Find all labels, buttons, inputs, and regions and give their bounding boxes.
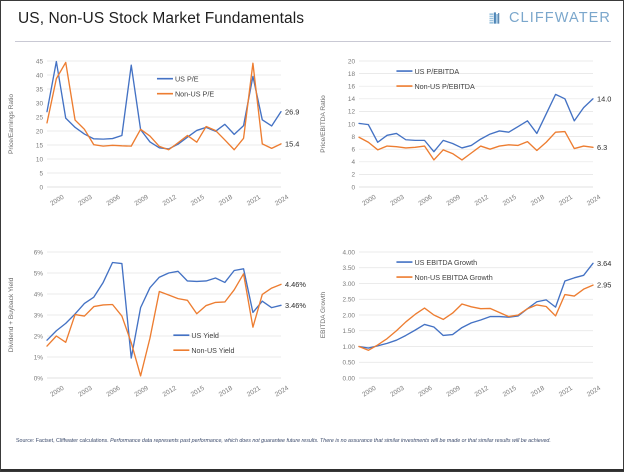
legend-label: US P/EBITDA <box>414 67 459 76</box>
y-axis-tick-label: 45 <box>36 58 44 65</box>
y-axis-tick-label: 0 <box>39 184 43 191</box>
x-axis-tick-label: 2003 <box>77 385 93 399</box>
y-axis-tick-label: 4% <box>34 291 44 298</box>
y-axis-tick-label: 6% <box>34 249 44 256</box>
x-axis-tick-label: 2003 <box>389 385 405 399</box>
y-axis-tick-label: 0% <box>34 375 44 382</box>
x-axis-tick-label: 2000 <box>49 194 65 208</box>
series-end-label: 4.46% <box>285 280 306 289</box>
y-axis-tick-label: 35 <box>36 86 44 93</box>
y-axis-tick-label: 5 <box>39 170 43 177</box>
series-end-label: 2.95 <box>597 281 611 290</box>
brand-name: CLIFFWATER <box>509 10 611 26</box>
legend-label: Non-US P/E <box>175 89 214 98</box>
y-axis-tick-label: 40 <box>36 72 44 79</box>
legend-label: Non-US P/EBITDA <box>414 82 475 91</box>
y-axis-tick-label: 1% <box>34 354 44 361</box>
series-line <box>47 263 281 359</box>
x-axis-tick-label: 2012 <box>162 385 178 399</box>
y-axis-title: Price/Earnings Ratio <box>8 94 15 154</box>
x-axis-tick-label: 2015 <box>190 385 206 399</box>
x-axis-tick-label: 2006 <box>105 194 121 208</box>
y-axis-tick-label: 2% <box>34 333 44 340</box>
y-axis-tick-label: 4 <box>351 159 355 166</box>
y-axis-tick-label: 20 <box>348 58 356 65</box>
x-axis-tick-label: 2015 <box>190 194 206 208</box>
cliffwater-book-logo-icon <box>489 11 504 26</box>
chart-ebitda-growth: 0.000.501.001.502.002.503.003.504.00EBIT… <box>313 238 624 429</box>
y-axis-tick-label: 16 <box>348 84 356 91</box>
y-axis-tick-label: 15 <box>36 142 44 149</box>
y-axis-tick-label: 2.00 <box>343 312 356 319</box>
x-axis-tick-label: 2021 <box>558 194 574 208</box>
x-axis-tick-label: 2012 <box>474 194 490 208</box>
y-axis-tick-label: 1.00 <box>343 344 356 351</box>
x-axis-tick-label: 2018 <box>218 194 234 208</box>
series-end-label: 26.9 <box>285 107 299 116</box>
legend-label: Non-US EBITDA Growth <box>414 273 492 282</box>
x-axis-tick-label: 2006 <box>417 194 433 208</box>
x-axis-tick-label: 2018 <box>530 385 546 399</box>
x-axis-tick-label: 2000 <box>361 194 377 208</box>
y-axis-title: Price/EBITDA Ratio <box>320 95 327 153</box>
y-axis-tick-label: 6 <box>351 147 355 154</box>
brand-lockup: CLIFFWATER <box>489 10 611 26</box>
x-axis-tick-label: 2000 <box>361 385 377 399</box>
slide-header: US, Non-US Stock Market Fundamentals CLI… <box>1 1 624 47</box>
x-axis-tick-label: 2012 <box>474 385 490 399</box>
y-axis-tick-label: 3.00 <box>343 281 356 288</box>
x-axis-tick-label: 2009 <box>134 194 150 208</box>
y-axis-tick-label: 12 <box>348 109 356 116</box>
chart-dividend-buyback-yield: 0%1%2%3%4%5%6%Dividend + Buyback Yield20… <box>1 238 313 429</box>
y-axis-title: Dividend + Buyback Yield <box>8 277 15 352</box>
series-end-label: 6.3 <box>597 143 607 152</box>
x-axis-tick-label: 2009 <box>446 385 462 399</box>
y-axis-tick-label: 10 <box>36 156 44 163</box>
series-line <box>359 132 593 160</box>
y-axis-tick-label: 5% <box>34 270 44 277</box>
slide-root: US, Non-US Stock Market Fundamentals CLI… <box>0 0 624 472</box>
series-end-label: 15.4 <box>285 139 299 148</box>
x-axis-tick-label: 2018 <box>218 385 234 399</box>
bottom-rule <box>1 469 624 471</box>
y-axis-tick-label: 3% <box>34 312 44 319</box>
x-axis-tick-label: 2006 <box>417 385 433 399</box>
series-end-label: 3.64 <box>597 259 611 268</box>
y-axis-tick-label: 10 <box>348 121 356 128</box>
y-axis-title: EBITDA Growth <box>320 291 327 338</box>
x-axis-tick-label: 2000 <box>49 385 65 399</box>
x-axis-tick-label: 2003 <box>389 194 405 208</box>
y-axis-tick-label: 3.50 <box>343 265 356 272</box>
page-title: US, Non-US Stock Market Fundamentals <box>18 10 304 28</box>
legend-label: Non-US Yield <box>191 346 234 355</box>
series-line <box>359 94 593 151</box>
chart-grid: 051015202530354045Price/Earnings Ratio20… <box>1 47 624 429</box>
y-axis-tick-label: 0.50 <box>343 360 356 367</box>
y-axis-tick-label: 2 <box>351 172 355 179</box>
x-axis-tick-label: 2009 <box>134 385 150 399</box>
x-axis-tick-label: 2024 <box>586 385 602 399</box>
y-axis-tick-label: 0.00 <box>343 375 356 382</box>
series-line <box>47 274 281 376</box>
y-axis-tick-label: 20 <box>36 128 44 135</box>
x-axis-tick-label: 2003 <box>77 194 93 208</box>
x-axis-tick-label: 2021 <box>246 194 262 208</box>
x-axis-tick-label: 2024 <box>274 385 290 399</box>
series-line <box>47 62 281 149</box>
y-axis-tick-label: 18 <box>348 71 356 78</box>
y-axis-tick-label: 4.00 <box>343 249 356 256</box>
x-axis-tick-label: 2015 <box>502 194 518 208</box>
legend-label: US P/E <box>175 74 199 83</box>
legend-label: US EBITDA Growth <box>414 258 477 267</box>
y-axis-tick-label: 14 <box>348 96 356 103</box>
x-axis-tick-label: 2021 <box>246 385 262 399</box>
header-divider <box>15 41 611 42</box>
y-axis-tick-label: 25 <box>36 114 44 121</box>
x-axis-tick-label: 2018 <box>530 194 546 208</box>
chart-pe-ebitda-ratio: 02468101214161820Price/EBITDA Ratio20002… <box>313 47 624 238</box>
x-axis-tick-label: 2009 <box>446 194 462 208</box>
footnote: Source: Factset, Cliffwater calculations… <box>16 437 608 447</box>
x-axis-tick-label: 2012 <box>162 194 178 208</box>
x-axis-tick-label: 2015 <box>502 385 518 399</box>
footnote-disclaimer: Performance data represents past perform… <box>110 438 551 444</box>
y-axis-tick-label: 8 <box>351 134 355 141</box>
y-axis-tick-label: 0 <box>351 184 355 191</box>
chart-pe-ratio: 051015202530354045Price/Earnings Ratio20… <box>1 47 313 238</box>
y-axis-tick-label: 1.50 <box>343 328 356 335</box>
x-axis-tick-label: 2006 <box>105 385 121 399</box>
footnote-source: Source: Factset, Cliffwater calculations… <box>16 438 110 444</box>
x-axis-tick-label: 2024 <box>586 194 602 208</box>
legend-label: US Yield <box>191 331 219 340</box>
y-axis-tick-label: 2.50 <box>343 297 356 304</box>
series-end-label: 3.46% <box>285 301 306 310</box>
y-axis-tick-label: 30 <box>36 100 44 107</box>
x-axis-tick-label: 2024 <box>274 194 290 208</box>
x-axis-tick-label: 2021 <box>558 385 574 399</box>
series-end-label: 14.0 <box>597 94 611 103</box>
